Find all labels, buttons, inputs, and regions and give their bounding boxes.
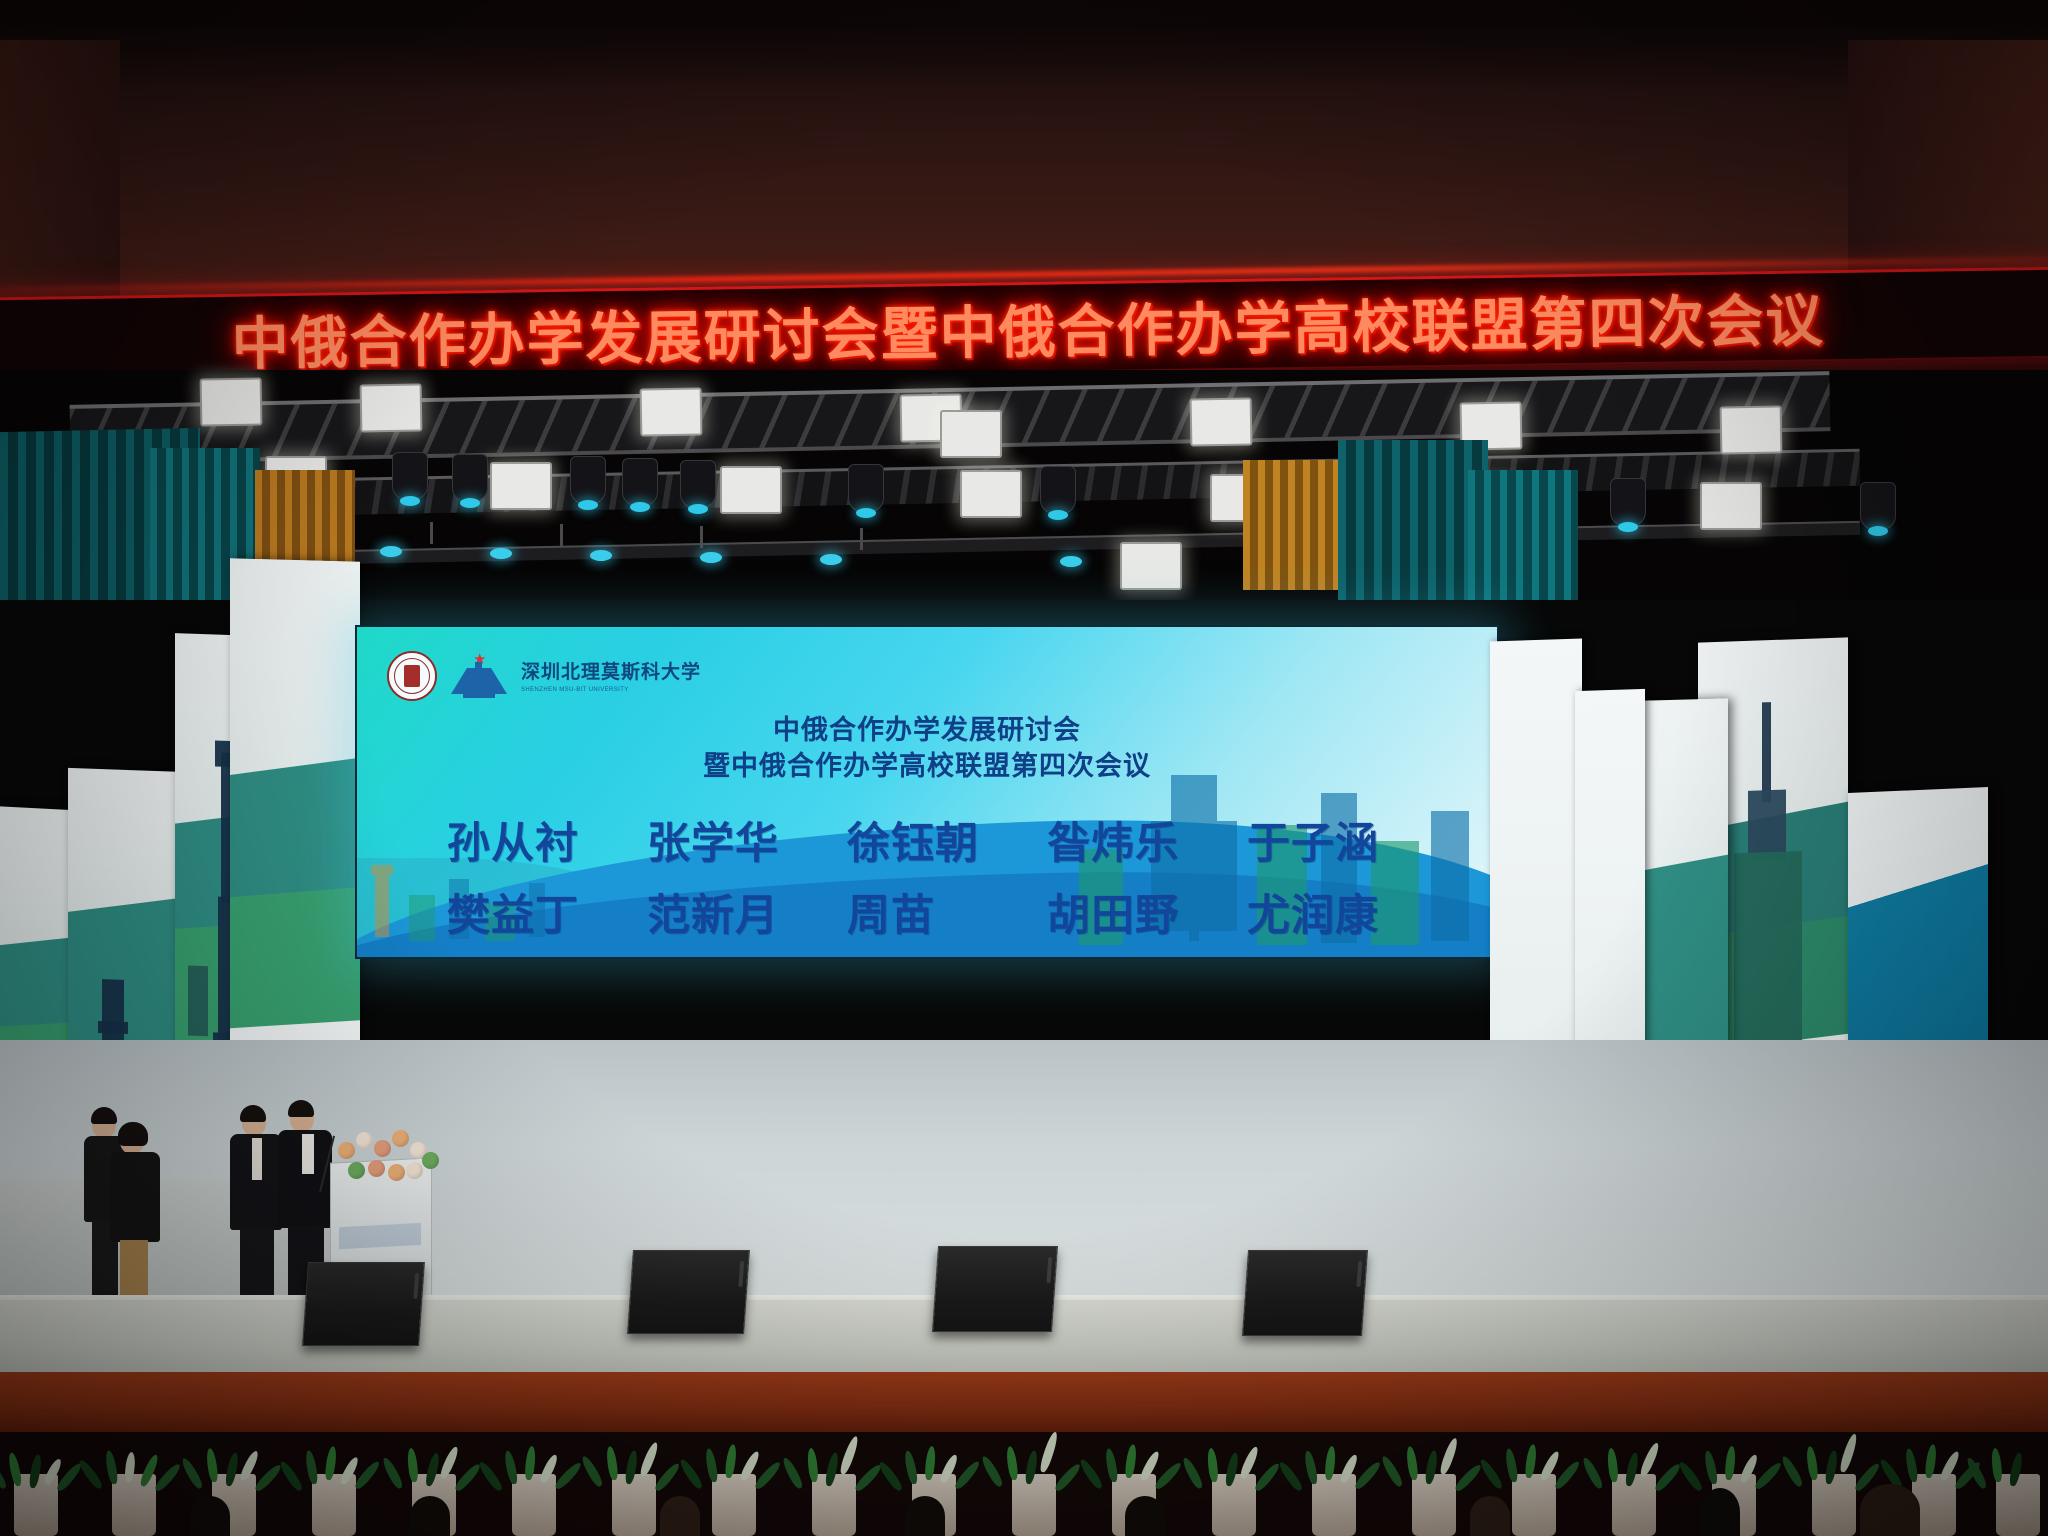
moving-head-light	[1860, 482, 1896, 530]
light-hook	[560, 524, 563, 546]
potted-plant-row	[0, 1398, 2048, 1536]
blue-indicator-light	[490, 548, 512, 559]
ceiling-beam	[0, 0, 2048, 26]
name-row: 杨立雨 魏佳俊 邱浩达 王盈基 段天恒	[447, 953, 1447, 959]
name-row: 孙从衬 张学华 徐钰朝 昝炜乐 于子涵	[447, 809, 1447, 871]
moving-head-light	[570, 456, 606, 504]
stage-light	[360, 383, 423, 432]
light-hook	[700, 526, 703, 548]
podium-label	[339, 1223, 421, 1249]
participant-name: 魏佳俊	[647, 953, 847, 959]
participant-name: 段天恒	[1247, 953, 1447, 959]
blue-indicator-light	[380, 546, 402, 557]
moving-head-light	[680, 460, 716, 508]
stage-light	[720, 466, 782, 514]
participant-name: 徐钰朝	[847, 809, 1047, 871]
participant-name: 于子涵	[1247, 809, 1447, 871]
stage-monitor-speaker	[932, 1246, 1058, 1332]
screen-title-line-1: 中俄合作办学发展研讨会	[357, 713, 1497, 749]
blue-indicator-light	[1060, 556, 1082, 567]
msu-bit-mark-icon: ★	[451, 654, 507, 698]
university-name-cn: 深圳北理莫斯科大学	[521, 657, 701, 684]
stage-light	[960, 470, 1022, 518]
participant-name: 范新月	[647, 881, 847, 943]
participant-name: 王盈基	[1047, 953, 1247, 959]
light-hook	[430, 522, 433, 544]
moving-head-light	[848, 464, 884, 512]
university-seal-icon	[387, 651, 437, 701]
blue-indicator-light	[700, 552, 722, 563]
participant-name: 胡田野	[1047, 881, 1247, 943]
led-banner-text: 中俄合作办学发展研讨会暨中俄合作办学高校联盟第四次会议	[231, 275, 1825, 381]
stage-monitor-speaker	[1242, 1250, 1368, 1336]
screen-title-block: 中俄合作办学发展研讨会 暨中俄合作办学高校联盟第四次会议	[357, 713, 1497, 784]
stage-light	[490, 462, 552, 510]
stage-light	[200, 377, 263, 426]
screen-logo-lockup: ★ 深圳北理莫斯科大学 SHENZHEN MSU-BIT UNIVERSITY	[387, 651, 701, 701]
screen-title-line-2: 暨中俄合作办学高校联盟第四次会议	[357, 749, 1497, 785]
light-hook	[860, 528, 863, 550]
main-led-screen: ★ 深圳北理莫斯科大学 SHENZHEN MSU-BIT UNIVERSITY …	[355, 625, 1499, 959]
moving-head-light	[622, 458, 658, 506]
moving-head-light	[1040, 466, 1076, 514]
university-name-en: SHENZHEN MSU-BIT UNIVERSITY	[521, 686, 701, 694]
conference-stage-photo: 中俄合作办学发展研讨会暨中俄合作办学高校联盟第四次会议	[0, 0, 2048, 1536]
participant-name: 樊益丁	[447, 881, 647, 943]
participant-name: 周苗	[847, 881, 1047, 943]
stage-monitor-speaker	[627, 1250, 750, 1334]
name-row: 樊益丁 范新月 周苗 胡田野 尤润康	[447, 881, 1447, 943]
stage-light	[1190, 397, 1253, 446]
flower-arrangement	[332, 1120, 442, 1190]
stage-light	[640, 387, 703, 436]
participant-name: 张学华	[647, 809, 847, 871]
stage-monitor-speaker	[302, 1262, 425, 1346]
moving-head-light	[392, 452, 428, 500]
moving-head-light	[452, 454, 488, 502]
stage-light	[940, 410, 1002, 458]
stage-light	[1700, 482, 1762, 530]
participant-name: 杨立雨	[447, 953, 647, 959]
audience-heads	[0, 1496, 2048, 1536]
blue-indicator-light	[590, 550, 612, 561]
stage-light	[1720, 405, 1783, 454]
moving-head-light	[1610, 478, 1646, 526]
blue-indicator-light	[820, 554, 842, 565]
left-wall	[0, 40, 120, 300]
participant-name-list: 孙从衬 张学华 徐钰朝 昝炜乐 于子涵 樊益丁 范新月 周苗 胡田野 尤润康 杨…	[357, 809, 1497, 959]
participant-name: 邱浩达	[847, 953, 1047, 959]
stage-light	[1120, 542, 1182, 590]
participant-name: 尤润康	[1247, 881, 1447, 943]
participant-name: 昝炜乐	[1047, 809, 1247, 871]
participant-name: 孙从衬	[447, 809, 647, 871]
